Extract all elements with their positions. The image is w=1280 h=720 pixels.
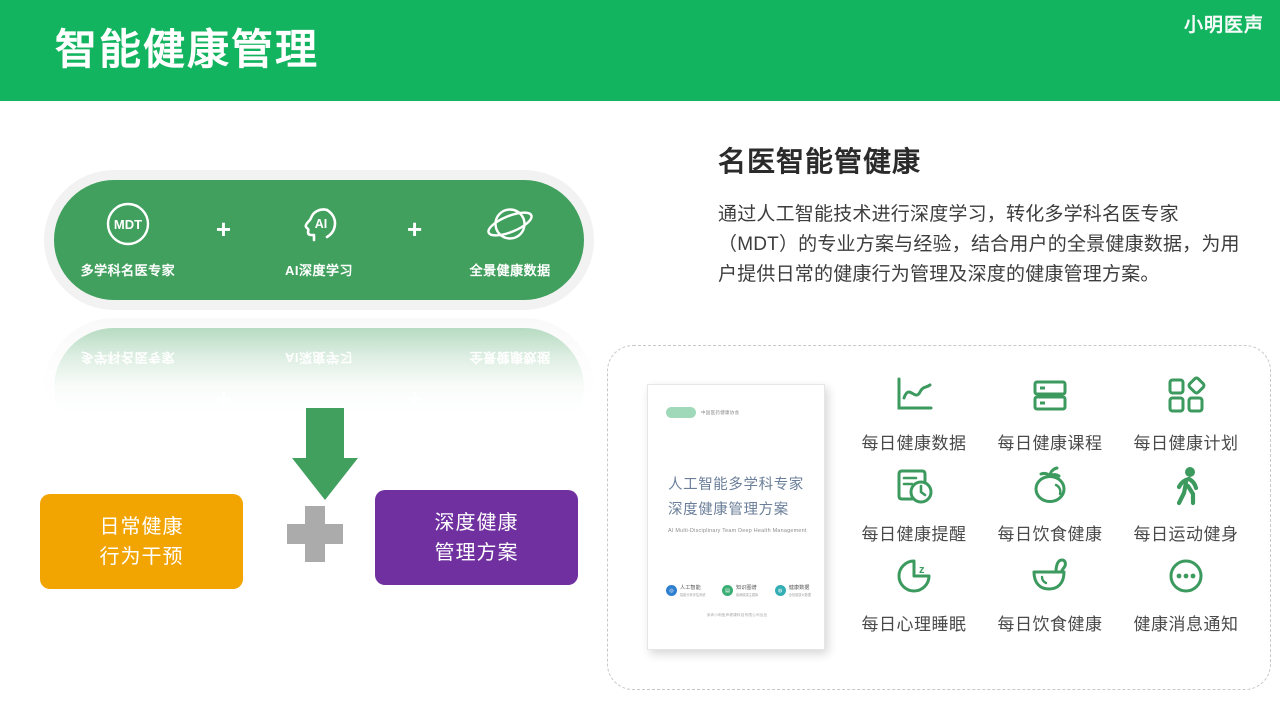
section-paragraph: 通过人工智能技术进行深度学习，转化多学科名医专家（MDT）的专业方案与经验，结合… (718, 200, 1248, 290)
svg-text:AI: AI (315, 217, 328, 231)
reflection-label-2: AI深度学习 (285, 349, 353, 368)
feature-item-sleep[interactable]: z 每日心理睡眠 (846, 553, 982, 644)
formula-pill: MDT 多学科名医专家 + AI AI深度学习 + (44, 170, 594, 310)
moon-sleep-icon: z (893, 553, 935, 599)
book-badge-data: ◍ 健康数据 全景健康大数据 (775, 584, 811, 597)
feature-label: 每日饮食健康 (998, 520, 1103, 545)
feature-item-health-plan[interactable]: 每日健康计划 (1118, 372, 1254, 463)
pill-label-data: 全景健康数据 (470, 260, 551, 279)
book-title-line2: 深度健康管理方案 (668, 498, 812, 523)
section-title: 名医智能管健康 (718, 140, 921, 180)
feature-item-health-data[interactable]: 每日健康数据 (846, 372, 982, 463)
feature-label: 健康消息通知 (1134, 610, 1239, 635)
outcome-daily-line2: 行为干预 (100, 542, 184, 572)
reflection-label-3: 全景健康数据 (470, 349, 551, 368)
feature-item-exercise[interactable]: 每日运动健身 (1118, 463, 1254, 554)
bowl-spoon-icon (1028, 553, 1072, 599)
feature-label: 每日饮食健康 (998, 610, 1103, 635)
pill-plus-1: + (202, 214, 245, 245)
pill-label-ai: AI深度学习 (285, 260, 353, 279)
plus-separator-icon (287, 506, 343, 562)
mdt-circle-icon: MDT (105, 201, 151, 247)
plan-shapes-icon (1165, 372, 1207, 418)
book-title: 人工智能多学科专家 深度健康管理方案 (668, 473, 812, 523)
feature-item-health-reminder[interactable]: 每日健康提醒 (846, 463, 982, 554)
book-subtitle: AI Multi-Disciplinary Team Deep Health M… (668, 528, 818, 534)
book-logo: 中国医药健康协会 (666, 407, 739, 418)
pill-item-ai[interactable]: AI AI深度学习 (245, 201, 393, 279)
book-badge-kg-sub: 疾病健康主题库 (736, 592, 758, 597)
book-badge-data-name: 健康数据 (789, 584, 811, 591)
report-book-cover[interactable]: 中国医药健康协会 人工智能多学科专家 深度健康管理方案 AI Multi-Dis… (647, 384, 825, 650)
outcome-box-daily[interactable]: 日常健康 行为干预 (40, 494, 243, 589)
feature-item-diet-health[interactable]: 每日饮食健康 (982, 463, 1118, 554)
book-footer: 深圳小明医声健康科技有限公司出品 (648, 613, 826, 618)
book-badge-kg: ▤ 知识图谱 疾病健康主题库 (722, 584, 758, 597)
svg-text:z: z (919, 564, 925, 576)
ai-badge-icon: ◎ (666, 585, 677, 596)
page-title: 智能健康管理 (55, 20, 319, 80)
feature-label: 每日健康课程 (998, 429, 1103, 454)
ai-head-icon: AI (296, 201, 342, 247)
book-badge-ai-sub: 智能分析评估系统 (680, 592, 706, 597)
feature-item-diet-health-2[interactable]: 每日饮食健康 (982, 553, 1118, 644)
svg-text:MDT: MDT (114, 217, 142, 232)
slide-root: 智能健康管理 小明医声 多学科名医专家 + AI深度学习 + 全景健康数据 (0, 0, 1280, 720)
pill-item-data[interactable]: 全景健康数据 (436, 201, 584, 279)
brand-logo: 小明医声 (1184, 10, 1264, 37)
down-arrow-icon (292, 408, 358, 500)
line-chart-icon (892, 372, 936, 418)
pill-plus-2: + (393, 214, 436, 245)
book-badge-ai: ◎ 人工智能 智能分析评估系统 (666, 584, 706, 597)
pill-item-mdt[interactable]: MDT 多学科名医专家 (54, 201, 202, 279)
pill-inner: MDT 多学科名医专家 + AI AI深度学习 + (54, 180, 584, 300)
outcome-deep-line1: 深度健康 (435, 508, 519, 538)
dots-message-icon (1165, 553, 1207, 599)
outcome-box-deep[interactable]: 深度健康 管理方案 (375, 490, 578, 585)
book-title-line1: 人工智能多学科专家 (668, 473, 812, 498)
reminder-clock-icon (892, 463, 936, 509)
page-header: 智能健康管理 小明医声 (0, 0, 1280, 101)
book-logo-text: 中国医药健康协会 (701, 410, 739, 416)
walking-person-icon (1167, 463, 1205, 509)
book-logo-mark (666, 407, 696, 418)
pill-label-mdt: 多学科名医专家 (81, 260, 176, 279)
book-badge-kg-name: 知识图谱 (736, 584, 758, 591)
outcome-daily-line1: 日常健康 (100, 512, 184, 542)
feature-item-notifications[interactable]: 健康消息通知 (1118, 553, 1254, 644)
outcome-deep-line2: 管理方案 (435, 538, 519, 568)
tomato-icon (1029, 463, 1071, 509)
book-badge-data-sub: 全景健康大数据 (789, 592, 811, 597)
feature-label: 每日健康提醒 (862, 520, 967, 545)
feature-label: 每日运动健身 (1134, 520, 1239, 545)
feature-label: 每日健康数据 (862, 429, 967, 454)
book-badges: ◎ 人工智能 智能分析评估系统 ▤ 知识图谱 疾病健康主题库 ◍ 健康数据 全景… (666, 584, 811, 597)
feature-label: 每日健康计划 (1134, 429, 1239, 454)
book-badge-ai-name: 人工智能 (680, 584, 706, 591)
health-data-badge-icon: ◍ (775, 585, 786, 596)
planet-icon (485, 201, 535, 247)
feature-item-health-course[interactable]: 每日健康课程 (982, 372, 1118, 463)
feature-grid: 每日健康数据 每日健康课程 (846, 372, 1254, 644)
course-list-icon (1029, 372, 1071, 418)
pill-reflection: 多学科名医专家 + AI深度学习 + 全景健康数据 (44, 318, 594, 413)
reflection-label-1: 多学科名医专家 (81, 349, 176, 368)
knowledge-graph-badge-icon: ▤ (722, 585, 733, 596)
feature-label: 每日心理睡眠 (862, 610, 967, 635)
